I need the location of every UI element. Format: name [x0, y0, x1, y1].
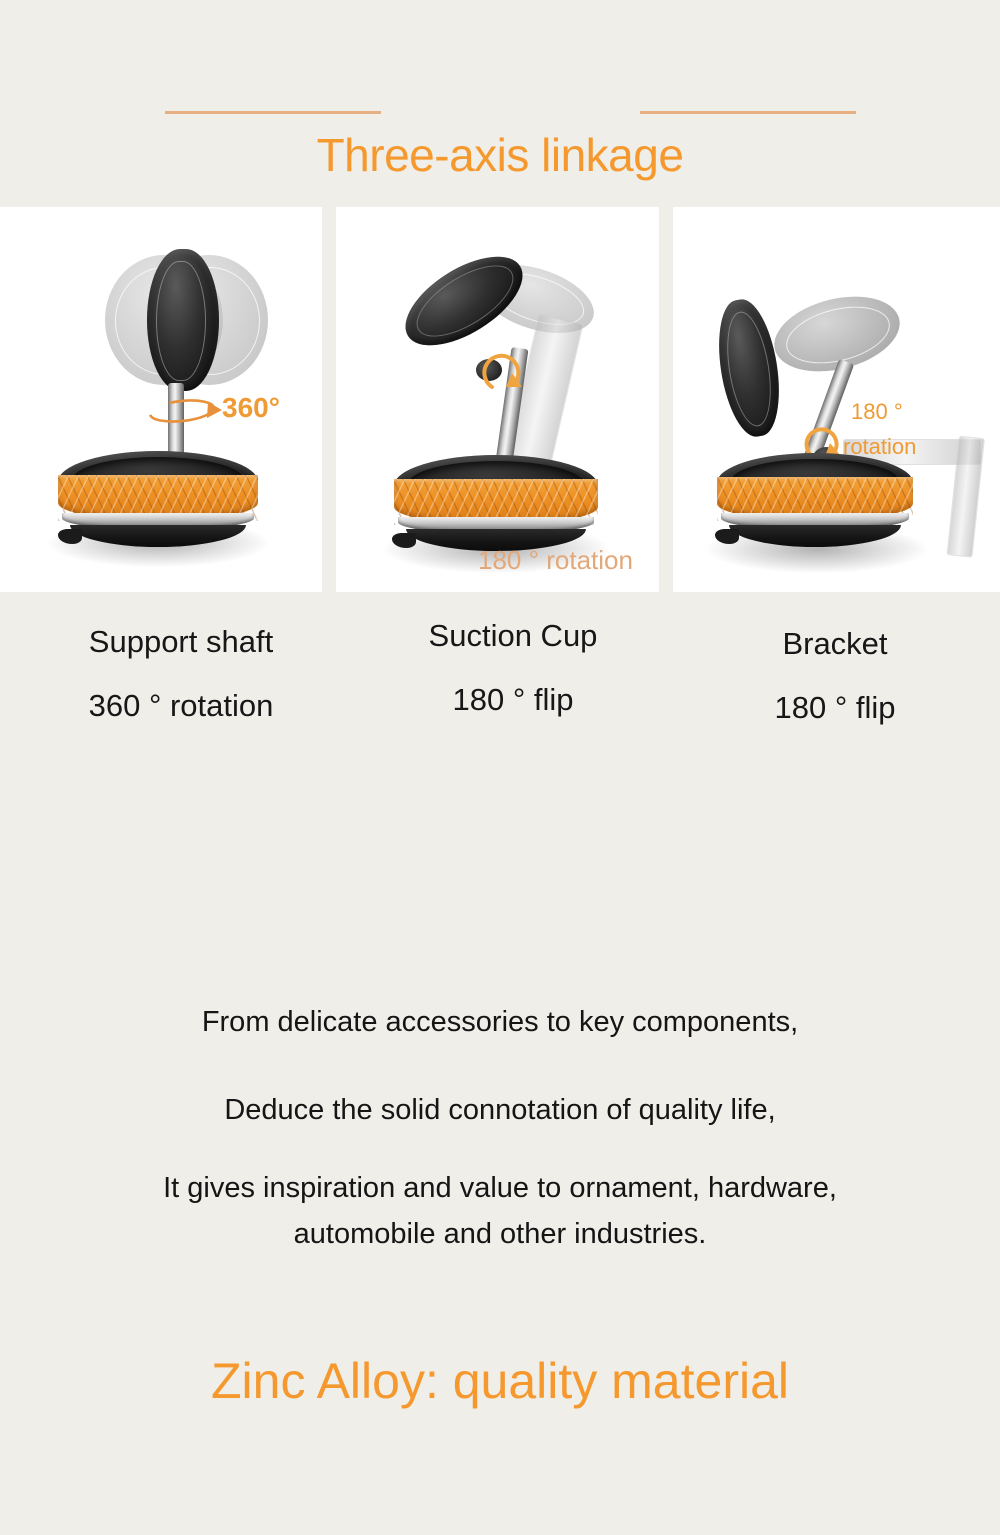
footer-heading: Zinc Alloy: quality material: [0, 1352, 1000, 1410]
flip-arrow-icon: [482, 343, 526, 397]
feature-panels: 360°: [0, 207, 1000, 592]
header: Three-axis linkage: [0, 0, 1000, 207]
panel-annotation-180-rotation: 180 ° rotation: [478, 545, 633, 576]
caption-title: Suction Cup: [368, 618, 658, 654]
title-rule-left: [165, 111, 381, 114]
marketing-copy: From delicate accessories to key compone…: [0, 1005, 1000, 1251]
caption-subtitle: 360 ° rotation: [36, 688, 326, 724]
panel-annotation-360: 360°: [222, 392, 280, 424]
panel-suction-cup[interactable]: 180 ° rotation: [336, 207, 659, 592]
rotation-arrow-icon: [146, 393, 222, 429]
title-rule-right: [640, 111, 856, 114]
caption-bracket: Bracket 180 ° flip: [690, 626, 980, 726]
caption-suction-cup: Suction Cup 180 ° flip: [368, 618, 658, 718]
caption-title: Support shaft: [36, 624, 326, 660]
caption-support-shaft: Support shaft 360 ° rotation: [36, 624, 326, 724]
feature-captions: Support shaft 360 ° rotation Suction Cup…: [0, 592, 1000, 772]
page-title: Three-axis linkage: [0, 128, 1000, 182]
panel-support-shaft[interactable]: 360°: [0, 207, 322, 592]
panel-annotation-180: 180 °: [851, 397, 903, 427]
copy-line-4: automobile and other industries.: [0, 1217, 1000, 1251]
panel-bracket[interactable]: 180 ° rotation: [673, 207, 1000, 592]
copy-line-2: Deduce the solid connotation of quality …: [0, 1093, 1000, 1127]
caption-subtitle: 180 ° flip: [368, 682, 658, 718]
caption-title: Bracket: [690, 626, 980, 662]
copy-line-3: It gives inspiration and value to orname…: [0, 1171, 1000, 1205]
magnetic-disc-face: [156, 261, 206, 381]
copy-line-1: From delicate accessories to key compone…: [0, 1005, 1000, 1039]
caption-subtitle: 180 ° flip: [690, 690, 980, 726]
panel-annotation-rotation: rotation: [843, 432, 916, 462]
